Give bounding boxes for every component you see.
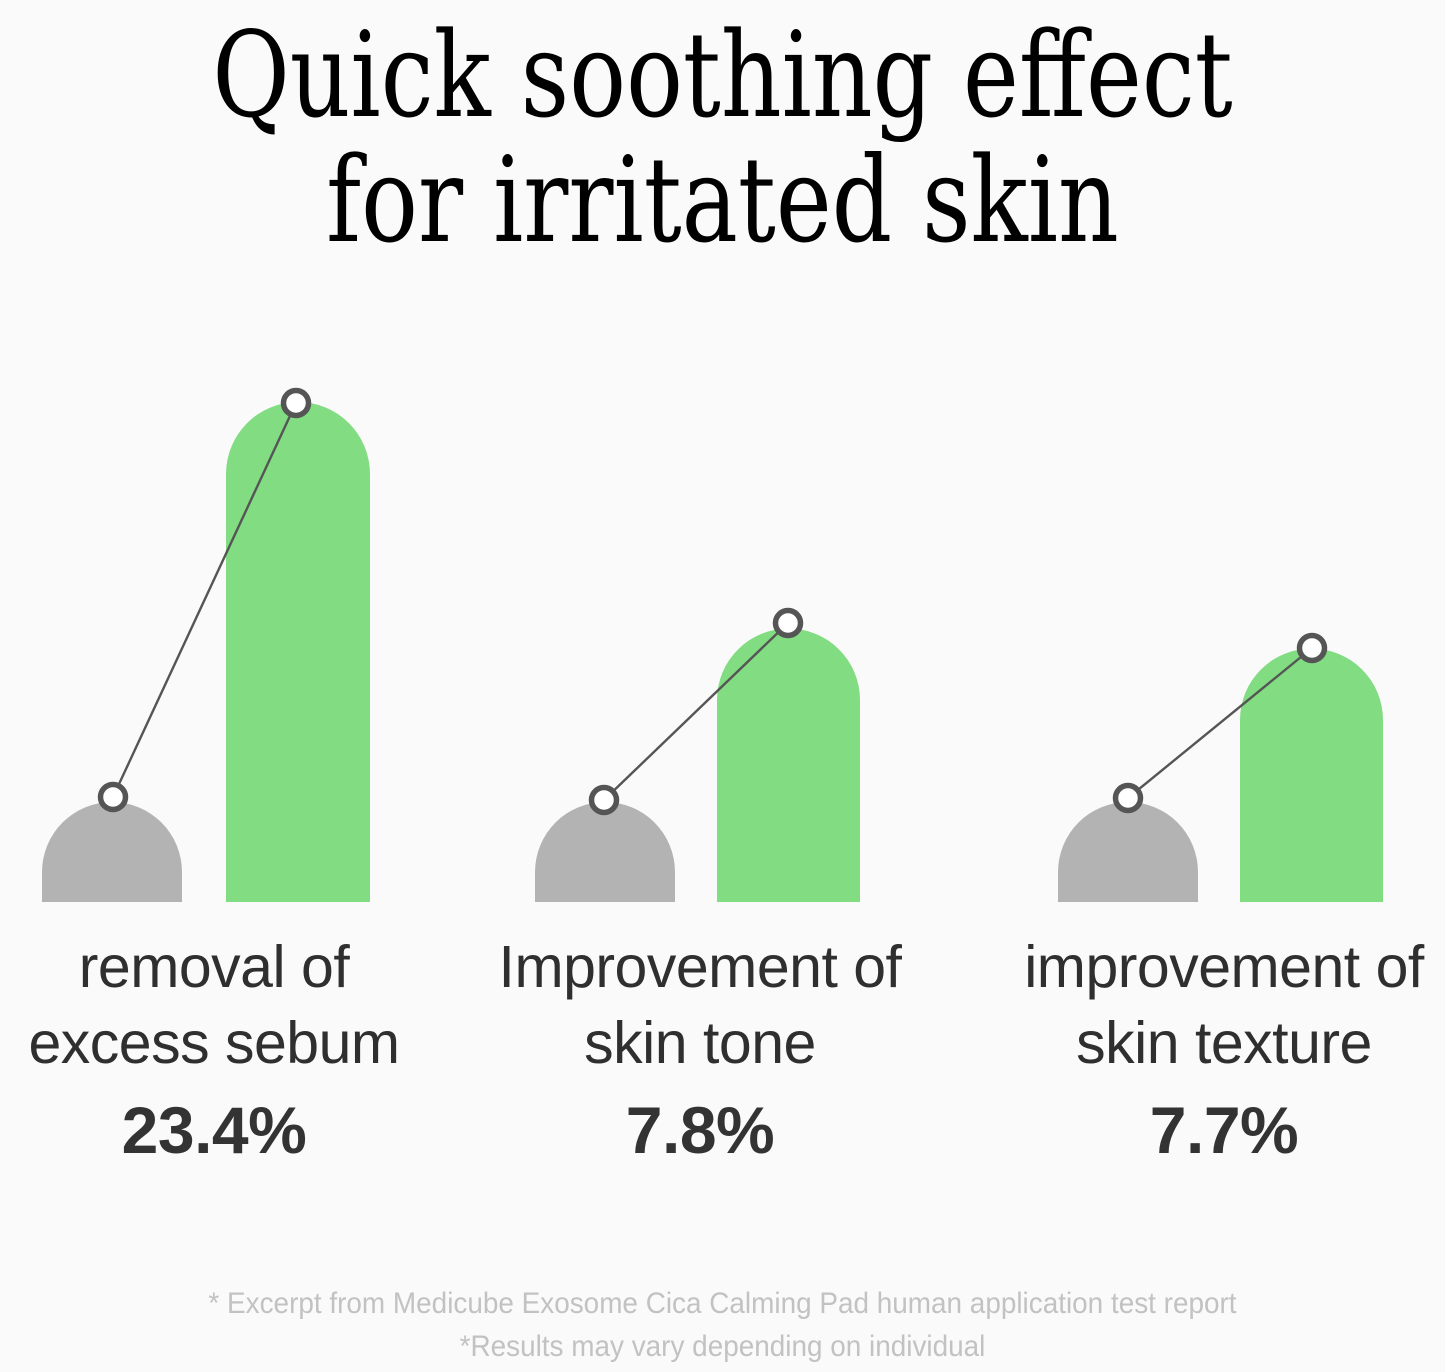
after-marker-sebum <box>284 391 309 416</box>
before-marker-skin-tone <box>592 788 617 813</box>
after-marker-skin-texture <box>1300 636 1325 661</box>
before-marker-skin-texture <box>1116 786 1141 811</box>
before-bar-skin-texture <box>1058 802 1198 902</box>
chart-labels: removal of excess sebum 23.4% Improvemen… <box>0 930 1445 1200</box>
connector-line-sebum <box>113 403 296 797</box>
title-line-1: Quick soothing effect <box>145 6 1301 145</box>
group-label-skin-tone: Improvement of skin tone 7.8% <box>460 930 940 1169</box>
title-line-2: for irritated skin <box>145 131 1301 270</box>
category-line-2-skin-texture: skin texture <box>978 1006 1445 1082</box>
chart-group-skin-tone <box>535 611 860 903</box>
after-bar-skin-texture <box>1240 649 1383 903</box>
value-skin-tone: 7.8% <box>460 1093 940 1169</box>
value-sebum: 23.4% <box>0 1093 454 1169</box>
category-line-2-skin-tone: skin tone <box>460 1006 940 1082</box>
category-line-1-skin-tone: Improvement of <box>460 930 940 1006</box>
footnote-line-1: * Excerpt from Medicube Exosome Cica Cal… <box>51 1283 1395 1326</box>
after-bar-sebum <box>226 402 370 902</box>
page-title: Quick soothing effect for irritated skin <box>0 0 1445 270</box>
chart-group-skin-texture <box>1058 636 1383 903</box>
group-label-skin-texture: improvement of skin texture 7.7% <box>978 930 1445 1169</box>
chart-group-sebum <box>42 391 370 903</box>
after-marker-skin-tone <box>776 611 801 636</box>
category-line-2-sebum: excess sebum <box>0 1006 454 1082</box>
connector-line-skin-tone <box>604 623 788 800</box>
value-skin-texture: 7.7% <box>978 1093 1445 1169</box>
connector-line-skin-texture <box>1128 648 1312 798</box>
before-bar-sebum <box>42 802 182 902</box>
before-bar-skin-tone <box>535 802 675 902</box>
before-marker-sebum <box>101 785 126 810</box>
group-label-sebum: removal of excess sebum 23.4% <box>0 930 454 1169</box>
category-line-1-sebum: removal of <box>0 930 454 1006</box>
after-bar-skin-tone <box>717 629 860 903</box>
category-line-1-skin-texture: improvement of <box>978 930 1445 1006</box>
footnote-line-2: *Results may vary depending on individua… <box>51 1326 1395 1369</box>
footnote: * Excerpt from Medicube Exosome Cica Cal… <box>0 1283 1445 1368</box>
